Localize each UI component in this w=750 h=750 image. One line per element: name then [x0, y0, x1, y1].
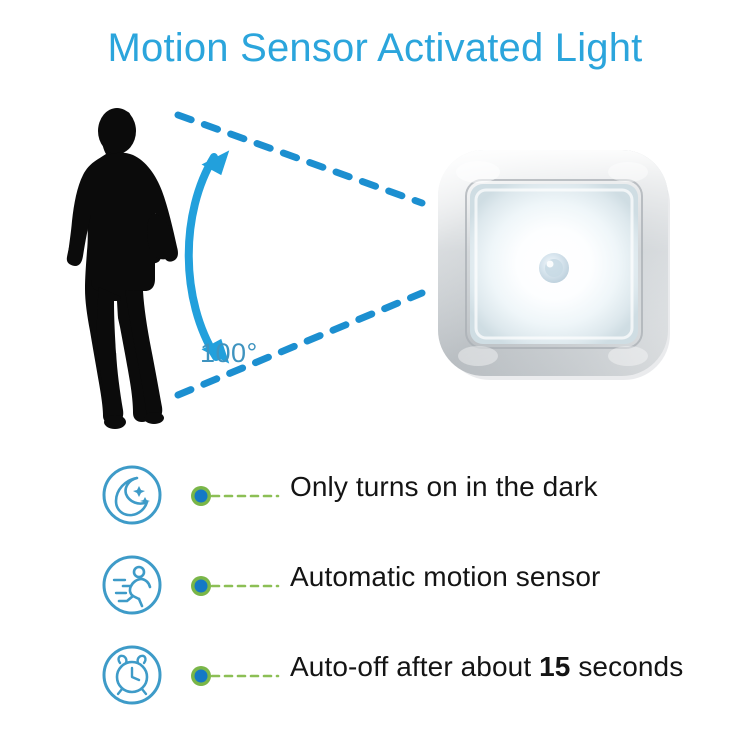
- feature-list: Only turns on in the dark: [0, 455, 750, 725]
- page-title: Motion Sensor Activated Light: [0, 26, 750, 71]
- moon-stars-icon: [101, 464, 163, 526]
- feature-label: Automatic motion sensor: [290, 561, 600, 593]
- detection-angle-label: 100°: [200, 338, 258, 369]
- hero-illustration: 100°: [0, 95, 750, 435]
- product-infographic: Motion Sensor Activated Light: [0, 0, 750, 750]
- bullet-connector: [190, 575, 280, 597]
- feature-text-suffix: seconds: [570, 651, 683, 682]
- feature-row: Automatic motion sensor: [0, 545, 750, 635]
- feature-row: Auto-off after about 15 seconds: [0, 635, 750, 725]
- square-led-motion-night-light: [432, 142, 680, 390]
- feature-text-main: Only turns on in the dark: [290, 471, 598, 502]
- feature-label: Only turns on in the dark: [290, 471, 598, 503]
- feature-label: Auto-off after about 15 seconds: [290, 651, 683, 683]
- bullet-connector: [190, 665, 280, 687]
- feature-row: Only turns on in the dark: [0, 455, 750, 545]
- running-person-icon: [101, 554, 163, 616]
- feature-text-highlight: 15: [539, 651, 570, 682]
- alarm-clock-icon: [101, 644, 163, 706]
- feature-text-main: Auto-off after about: [290, 651, 539, 682]
- bullet-connector: [190, 485, 280, 507]
- feature-text-main: Automatic motion sensor: [290, 561, 600, 592]
